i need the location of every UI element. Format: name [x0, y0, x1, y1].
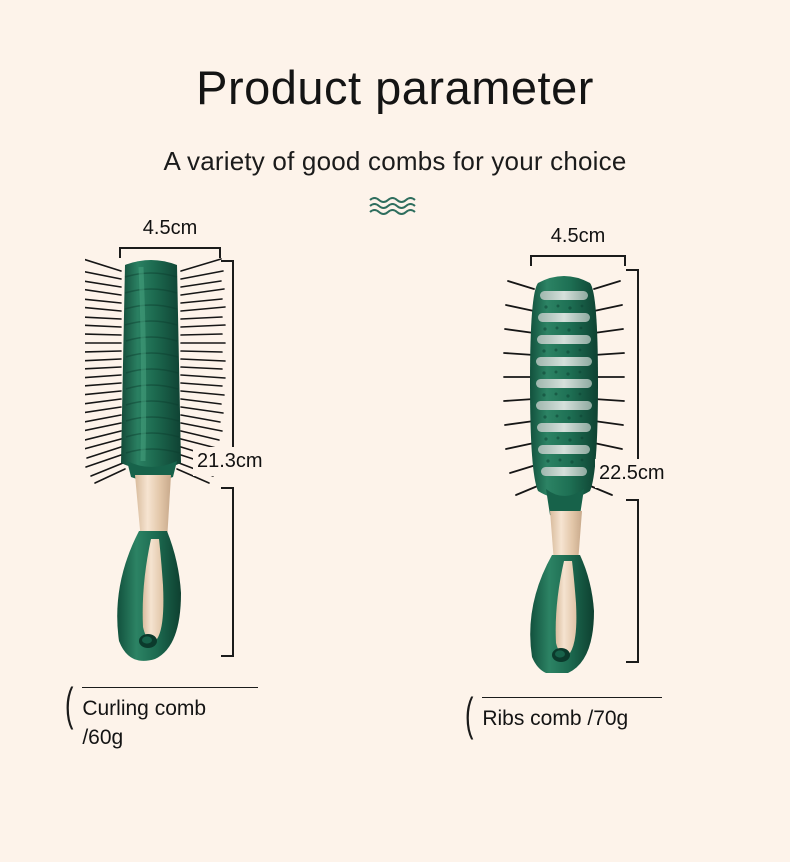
page-header: Product parameter A variety of good comb… [0, 0, 790, 217]
product-panel-ribs-comb: 4.5cm 22.5cm [440, 217, 780, 817]
caption-bracket-icon: ( [465, 697, 473, 731]
height-label-ribs-comb: 22.5cm [595, 459, 669, 488]
wave-divider-wrap [0, 195, 790, 217]
caption-body-curling-comb: Curling comb /60g [82, 687, 206, 752]
caption-text-ribs-comb: Ribs comb /70g [482, 703, 628, 730]
page-title: Product parameter [0, 62, 790, 114]
wave-divider-icon [369, 195, 421, 217]
height-label-curling-comb: 21.3cm [193, 447, 267, 476]
product-panel-curling-comb: 4.5cm 21.3cm [35, 217, 375, 817]
page-subtitle: A variety of good combs for your choice [0, 146, 790, 177]
caption-text-curling-comb: Curling comb /60g [82, 693, 206, 749]
caption-rule [82, 687, 258, 688]
products-stage: 4.5cm 21.3cm [0, 217, 790, 817]
caption-ribs-comb: ( Ribs comb /70g [465, 697, 628, 733]
caption-bracket-icon: ( [65, 687, 73, 721]
width-label-curling-comb: 4.5cm [143, 217, 197, 240]
width-label-ribs-comb: 4.5cm [551, 225, 605, 248]
caption-curling-comb: ( Curling comb /60g [65, 687, 206, 752]
caption-body-ribs-comb: Ribs comb /70g [482, 697, 628, 733]
caption-rule [482, 697, 662, 698]
